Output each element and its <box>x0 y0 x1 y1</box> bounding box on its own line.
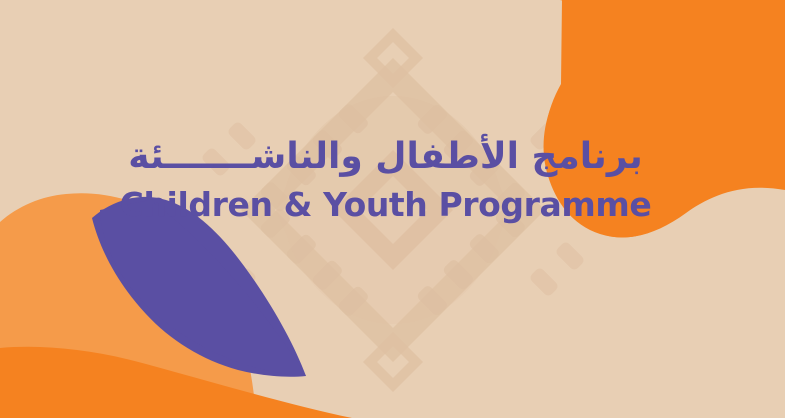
children-youth-programme-banner: برنامج الأطفال والناشـــــــئة Children … <box>0 0 785 418</box>
title-block: برنامج الأطفال والناشـــــــئة Children … <box>0 136 785 226</box>
page-title-english: Children & Youth Programme <box>0 184 771 225</box>
page-title-arabic: برنامج الأطفال والناشـــــــئة <box>0 136 771 178</box>
